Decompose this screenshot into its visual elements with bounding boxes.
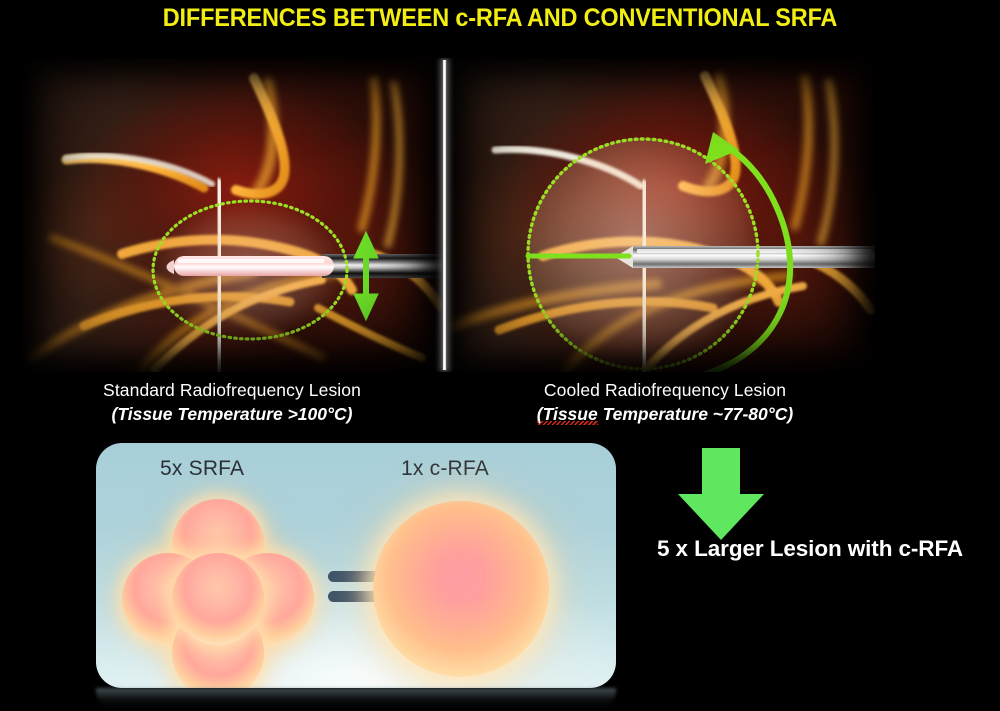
lesion-sphere-large <box>373 501 549 677</box>
lesion-volume-comparison-panel: 5x SRFA 1x c-RFA <box>96 443 616 688</box>
panel-reflection <box>96 688 616 710</box>
caption-line-primary: Cooled Radiofrequency Lesion <box>455 380 875 401</box>
caption-standard-rfa: Standard Radiofrequency Lesion (Tissue T… <box>22 380 442 425</box>
caption-temperature-rest: Temperature ~77-80°C) <box>598 404 794 424</box>
lesion-sphere-center <box>172 553 264 645</box>
page-title: DIFFERENCES BETWEEN c-RFA AND CONVENTION… <box>30 4 970 33</box>
caption-line-temperature: (Tissue Temperature >100°C) <box>112 404 353 425</box>
standard-radiofrequency-illustration <box>22 58 442 372</box>
rf-probe <box>615 246 875 268</box>
label-1x-crfa: 1x c-RFA <box>401 457 489 481</box>
down-arrow-icon <box>676 448 766 540</box>
cooled-radiofrequency-illustration <box>447 58 875 372</box>
rf-probe <box>167 254 443 278</box>
label-5x-srfa: 5x SRFA <box>160 457 244 481</box>
conclusion-statement: 5 x Larger Lesion with c-RFA <box>630 536 990 562</box>
panel-divider <box>442 60 447 370</box>
caption-line-primary: Standard Radiofrequency Lesion <box>22 380 442 401</box>
comparison-image-band <box>22 58 875 372</box>
spellcheck-misspelled-word: (Tissue <box>537 404 598 424</box>
caption-cooled-rfa: Cooled Radiofrequency Lesion (Tissue Tem… <box>455 380 875 425</box>
caption-line-temperature: (Tissue Temperature ~77-80°C) <box>537 404 793 425</box>
